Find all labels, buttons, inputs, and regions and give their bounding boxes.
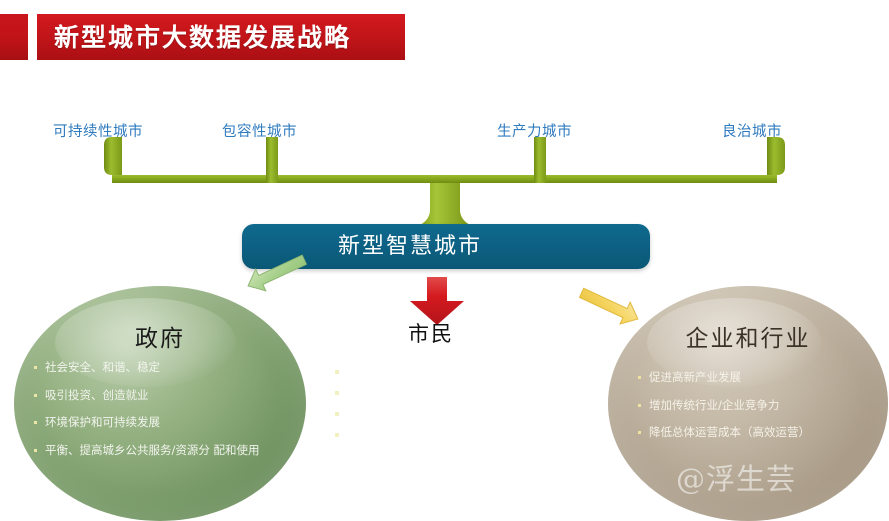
list-item: 增加传统行业/企业竞争力 (636, 400, 888, 412)
branch-label-inclusive: 包容性城市 (222, 120, 297, 141)
placeholder-bullet (335, 370, 339, 374)
list-item: 降低总体运营成本（高效运营） (636, 427, 888, 439)
page-title: 新型城市大数据发展战略 (54, 25, 351, 50)
list-item: 社会安全、和谐、稳定 (32, 362, 306, 374)
title-banner: 新型城市大数据发展战略 (37, 14, 405, 60)
government-bullet-list: 社会安全、和谐、稳定 吸引投资、创造就业 环境保护和可持续发展 平衡、提高城乡公… (14, 362, 306, 472)
core-concept-box: 新型智慧城市 (242, 224, 650, 269)
branch-label-sustainable: 可持续性城市 (53, 120, 143, 141)
placeholder-bullet (335, 412, 339, 416)
government-ellipse: 政府 社会安全、和谐、稳定 吸引投资、创造就业 环境保护和可持续发展 平衡、提高… (14, 286, 306, 521)
enterprise-title: 企业和行业 (608, 319, 888, 353)
enterprise-bullet-list: 促进高新产业发展 增加传统行业/企业竞争力 降低总体运营成本（高效运营） (608, 372, 888, 455)
citizens-label: 市民 (408, 318, 454, 348)
placeholder-bullets (335, 370, 355, 440)
bracket-connector (0, 95, 889, 235)
placeholder-bullet (335, 433, 339, 437)
government-title: 政府 (14, 319, 306, 353)
list-item: 环境保护和可持续发展 (32, 417, 306, 429)
list-item: 促进高新产业发展 (636, 372, 888, 384)
list-item: 平衡、提高城乡公共服务/资源分 配和使用 (32, 445, 306, 457)
watermark-text: @浮生芸 (676, 456, 796, 498)
branch-label-governance: 良治城市 (722, 120, 782, 141)
title-accent-block (0, 14, 28, 60)
slide-canvas: 新型城市大数据发展战略 可持续性城市 包容性城市 生产力城市 良治城市 (0, 0, 889, 500)
core-concept-label: 新型智慧城市 (338, 236, 482, 258)
placeholder-bullet (335, 391, 339, 395)
branch-label-productive: 生产力城市 (497, 120, 572, 141)
list-item: 吸引投资、创造就业 (32, 390, 306, 402)
